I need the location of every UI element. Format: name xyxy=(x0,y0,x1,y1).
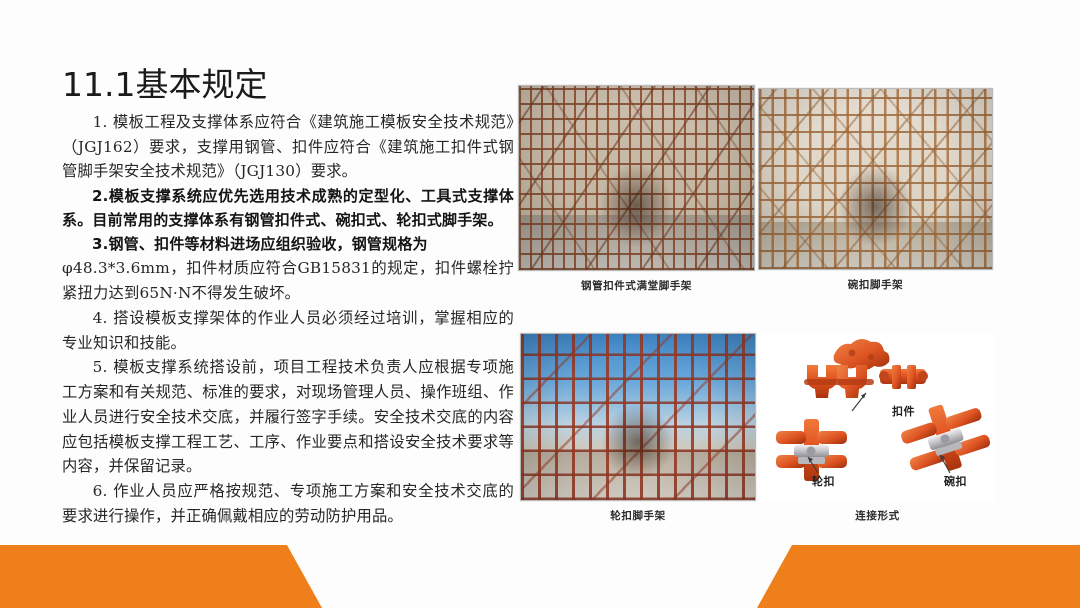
figure-caption-1: 钢管扣件式满堂脚手架 xyxy=(518,278,755,293)
wheel-lock-part-group xyxy=(776,419,847,481)
paragraph-3: 3.钢管、扣件等材料进场应组织验收，钢管规格为 xyxy=(62,232,514,256)
coupler-part-group xyxy=(804,339,928,411)
figure-image-2 xyxy=(758,88,993,270)
figure-connection-types: 扣件 轮扣 碗扣 连接形式 xyxy=(760,333,995,523)
paragraph-1: 1. 模板工程及支撑体系应符合《建筑施工模板安全技术规范》（JGJ162）要求，… xyxy=(62,110,514,184)
page-title: 11.1基本规定 xyxy=(62,66,514,104)
paragraph-2: 2.模板支撑系统应优先选用技术成熟的定型化、工具式支撑体系。目前常用的支撑体系有… xyxy=(62,184,514,232)
figure-cuplock-scaffold: 碗扣脚手架 xyxy=(758,88,993,292)
figure-caption-4: 连接形式 xyxy=(760,508,995,523)
figure-caption-3: 轮扣脚手架 xyxy=(520,508,756,523)
banner-shape-right xyxy=(740,545,1080,608)
paragraph-4: 4. 搭设模板支撑架体的作业人员必须经过培训，掌握相应的专业知识和技能。 xyxy=(62,306,514,356)
figure-image-1 xyxy=(518,85,755,271)
figure-caption-2: 碗扣脚手架 xyxy=(758,277,993,292)
paragraph-3b: φ48.3*3.6mm，扣件材质应符合GB15831的规定，扣件螺栓拧紧扭力达到… xyxy=(62,256,514,306)
bottom-banner xyxy=(0,545,1080,608)
paragraph-6: 6. 作业人员应严格按规范、专项施工方案和安全技术交底的要求进行操作，并正确佩戴… xyxy=(62,479,514,529)
figure-image-3 xyxy=(520,333,756,501)
figure-wheellock-scaffold: 轮扣脚手架 xyxy=(520,333,756,523)
figure-image-4: 扣件 轮扣 碗扣 xyxy=(760,333,995,501)
slide-canvas: 11.1基本规定 1. 模板工程及支撑体系应符合《建筑施工模板安全技术规范》（J… xyxy=(0,0,1080,608)
label-coupler: 扣件 xyxy=(892,403,915,419)
label-wheel-lock: 轮扣 xyxy=(812,473,835,489)
banner-shape-left xyxy=(0,545,325,608)
figure-grid: 钢管扣件式满堂脚手架 碗扣脚手架 xyxy=(515,80,1005,530)
figure-steel-coupler-scaffold: 钢管扣件式满堂脚手架 xyxy=(518,85,755,293)
label-cup-lock: 碗扣 xyxy=(944,473,967,489)
paragraph-5: 5. 模板支撑系统搭设前，项目工程技术负责人应根据专项施工方案和有关规范、标准的… xyxy=(62,355,514,479)
text-column: 11.1基本规定 1. 模板工程及支撑体系应符合《建筑施工模板安全技术规范》（J… xyxy=(62,66,514,529)
